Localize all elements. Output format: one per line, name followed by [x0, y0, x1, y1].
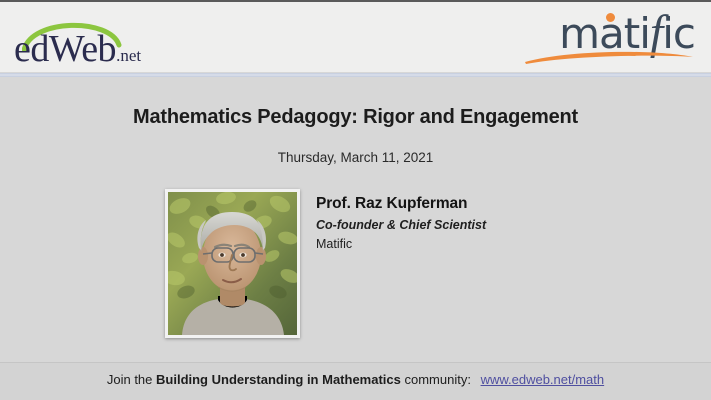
edweb-wordmark-text: edWeb [14, 28, 116, 70]
footer-suffix: community: [401, 372, 475, 387]
slide-date: Thursday, March 11, 2021 [0, 150, 711, 165]
footer-prefix: Join the [107, 372, 156, 387]
speaker-organization: Matific [316, 235, 646, 253]
edweb-logo[interactable]: edWeb.net [8, 10, 168, 68]
footer-community-name: Building Understanding in Mathematics [156, 372, 401, 387]
matific-dot-icon [606, 13, 615, 22]
header-divider [0, 73, 711, 77]
presentation-slide: edWeb.net matific Mathematics Pedagogy: … [0, 0, 711, 400]
speaker-name: Prof. Raz Kupferman [316, 194, 646, 214]
edweb-wordmark: edWeb.net [14, 30, 141, 75]
slide-header: edWeb.net matific [0, 2, 711, 72]
matific-swoosh-icon [523, 48, 695, 66]
slide-title: Mathematics Pedagogy: Rigor and Engageme… [0, 106, 711, 129]
speaker-role: Co-founder & Chief Scientist [316, 216, 646, 234]
edweb-net-suffix: .net [116, 46, 141, 65]
speaker-photo-image [168, 192, 297, 335]
matific-logo[interactable]: matific [515, 8, 695, 68]
footer-link[interactable]: www.edweb.net/math [481, 372, 605, 387]
speaker-info: Prof. Raz Kupferman Co-founder & Chief S… [316, 194, 646, 253]
speaker-photo [165, 189, 300, 338]
footer-text: Join the Building Understanding in Mathe… [0, 372, 711, 387]
